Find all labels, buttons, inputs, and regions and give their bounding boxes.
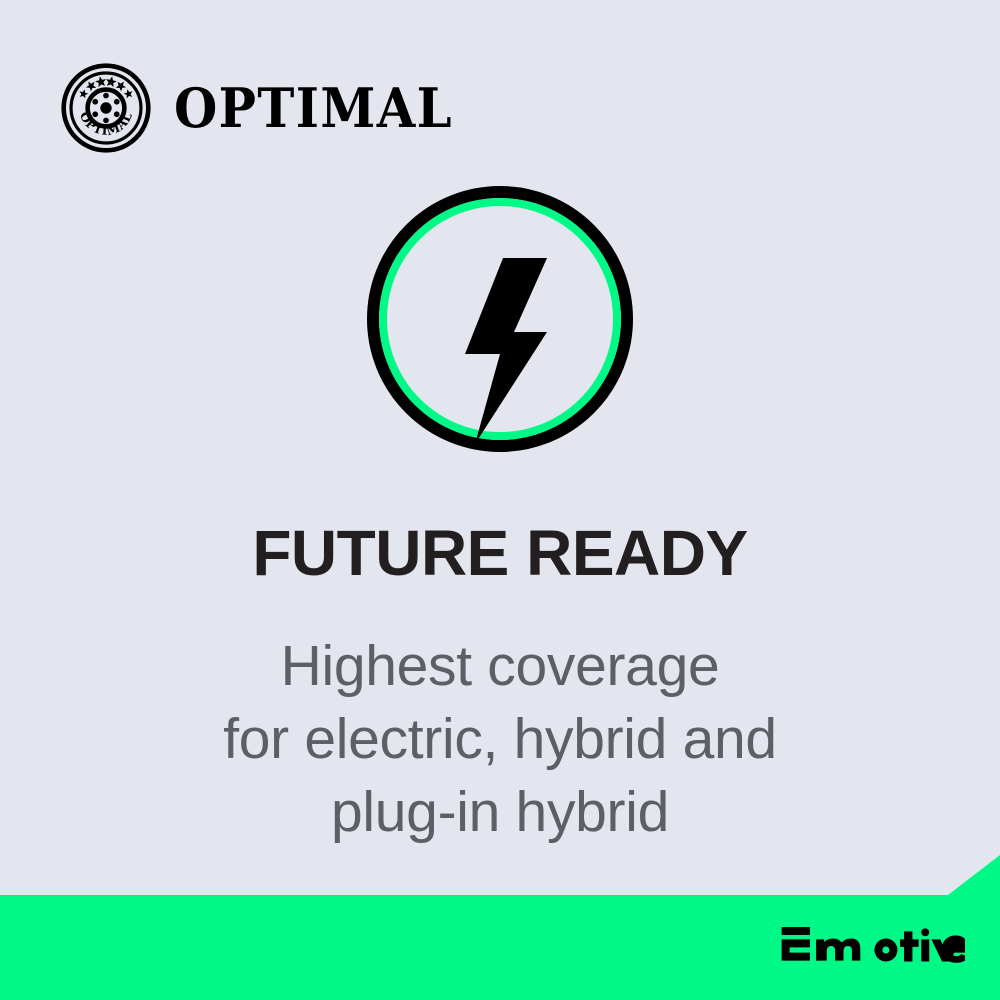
optimal-badge-icon: OPTIMAL	[60, 62, 152, 154]
lightning-bolt-in-circle-icon	[367, 186, 633, 452]
page-subtitle: Highest coverage for electric, hybrid an…	[0, 630, 1000, 849]
emotive-logo	[779, 927, 965, 965]
subtitle-line-2: for electric, hybrid and	[0, 703, 1000, 776]
poster-canvas: OPTIMAL OPTIMAL FUTURE READY Highest cov…	[0, 0, 1000, 1000]
footer-bar	[0, 855, 1000, 1000]
page-title: FUTURE READY	[0, 521, 1000, 585]
brand-wordmark: OPTIMAL	[174, 81, 453, 135]
subtitle-line-3: plug-in hybrid	[0, 776, 1000, 849]
subtitle-line-1: Highest coverage	[0, 630, 1000, 703]
brand-header: OPTIMAL OPTIMAL	[60, 62, 477, 154]
